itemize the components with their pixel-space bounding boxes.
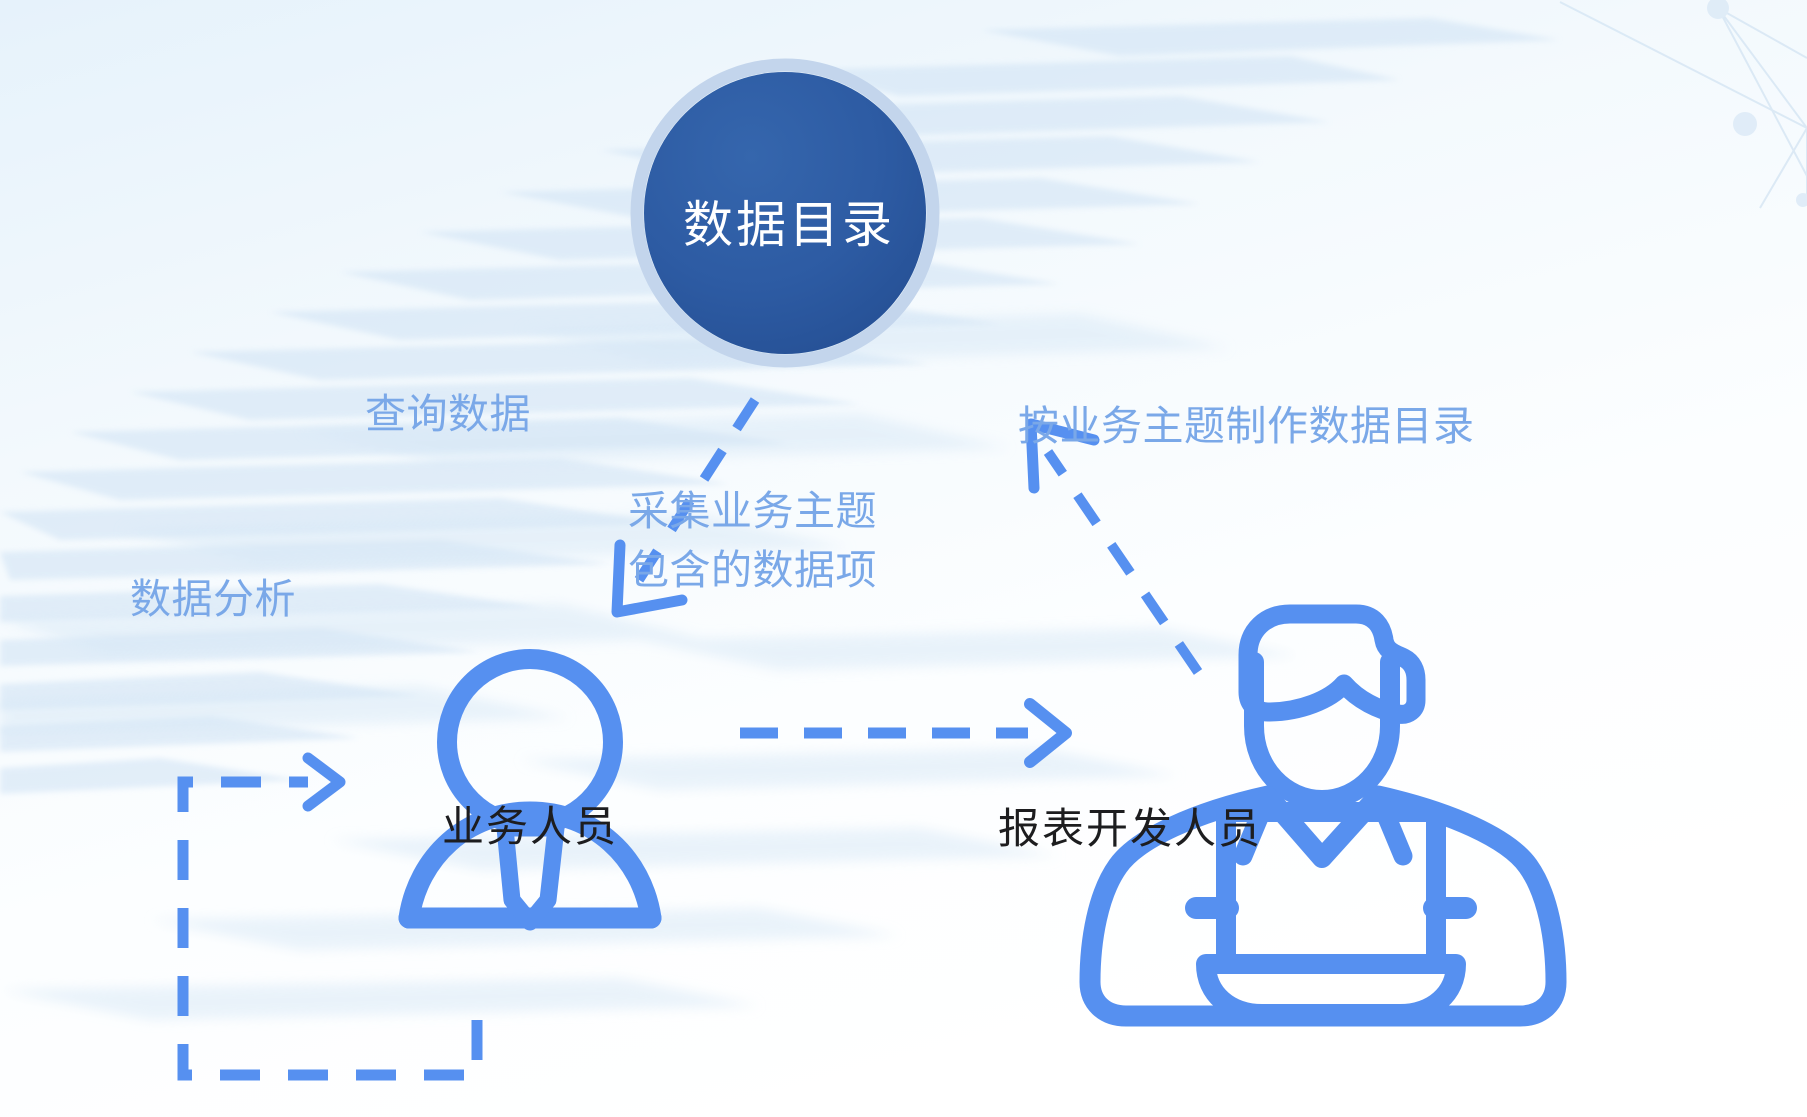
edge-label-collect-items-line2: 包含的数据项 [628,541,877,600]
edge-label-collect-items: 采集业务主题 包含的数据项 [628,482,877,601]
edge-label-query-data: 查询数据 [365,388,531,440]
diagram-canvas: 数据目录 查询数据 按业务主题制作数据目录 采集业务主题 包含的数据项 数据分析… [0,0,1807,1117]
edge-label-data-analysis: 数据分析 [130,573,296,625]
actor-label-developer: 报表开发人员 [998,802,1262,856]
actor-icons [0,0,1807,1117]
actor-label-business: 业务人员 [442,800,618,854]
edge-label-collect-items-line1: 采集业务主题 [628,482,877,541]
person-tie-icon[interactable] [409,659,651,922]
edge-label-make-catalog: 按业务主题制作数据目录 [1018,400,1475,452]
hub-label: 数据目录 [683,185,895,257]
